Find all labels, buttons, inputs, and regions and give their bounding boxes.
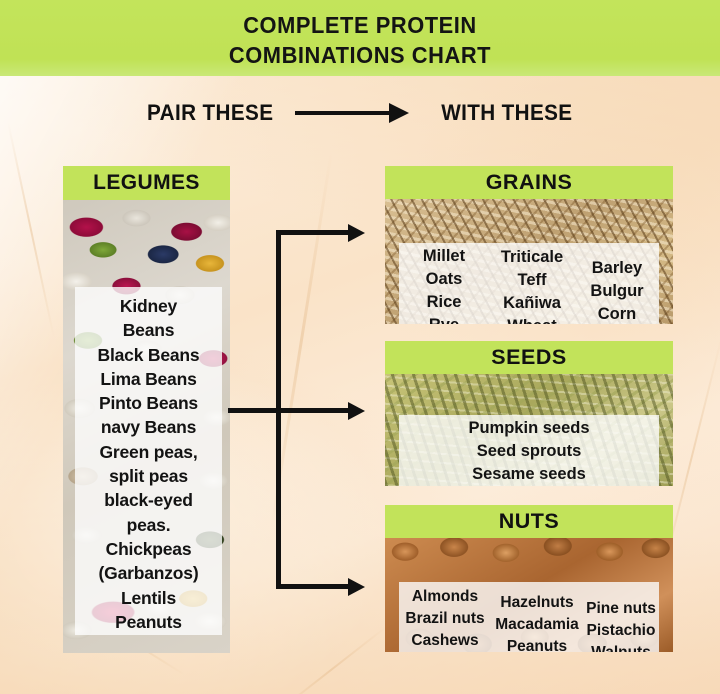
arrow-head (389, 103, 409, 123)
nuts-list-item: Pistachio (587, 620, 656, 642)
grains-list-item: Triticale (501, 246, 563, 269)
grains-food-list: MilletOatsRiceRye TriticaleTeffKañiwaWhe… (399, 243, 659, 324)
with-these-label: WITH THESE (442, 100, 573, 126)
legumes-list-item: Green peas, (75, 440, 222, 464)
legumes-heading: LEGUMES (63, 166, 230, 200)
seeds-list-item: Pumpkin seeds (468, 417, 589, 440)
nuts-list-item: Pine nuts (586, 598, 656, 620)
grains-list-item: Bulgur (590, 280, 643, 303)
legumes-list-item: Peanuts (75, 610, 222, 634)
seeds-list-item: Sesame seeds (472, 463, 586, 486)
nuts-panel: NUTS AlmondsBrazil nutsCashewsCoconut Ha… (385, 505, 673, 652)
grains-list-item: Corn (598, 303, 637, 324)
legumes-list-item: Beans (75, 318, 222, 342)
grains-list-item: Teff (517, 269, 546, 292)
legumes-list-item: Chickpeas (75, 537, 222, 561)
grains-heading: GRAINS (385, 166, 673, 199)
arrow-right-icon (295, 103, 419, 123)
arrow-head-nuts-icon (348, 578, 365, 596)
legumes-list-item: split peas (75, 464, 222, 488)
legumes-food-list: KidneyBeansBlack BeansLima BeansPinto Be… (75, 287, 222, 635)
pair-these-label: PAIR THESE (147, 100, 273, 126)
seeds-list-item: Seed sprouts (477, 440, 582, 463)
nuts-food-list: AlmondsBrazil nutsCashewsCoconut Hazelnu… (399, 582, 659, 652)
grains-list-item: Millet (423, 245, 465, 268)
grains-list-item: Wheat (507, 315, 557, 324)
seeds-heading: SEEDS (385, 341, 673, 374)
grains-list-item: Rye (429, 314, 459, 324)
seeds-photo: Pumpkin seedsSeed sproutsSesame seedsFla… (385, 374, 673, 486)
arrow-head-seeds-icon (348, 402, 365, 420)
connector-branch-grains (276, 230, 350, 235)
grains-photo: MilletOatsRiceRye TriticaleTeffKañiwaWhe… (385, 199, 673, 324)
nuts-list-item: Almonds (412, 586, 478, 608)
grains-list-item: Oats (426, 268, 463, 291)
connector-stem (228, 408, 280, 413)
legumes-list-item: Pinto Beans (75, 391, 222, 415)
connector-trunk (276, 230, 281, 589)
legumes-list-item: peas. (75, 513, 222, 537)
nuts-list-item: Walnuts (591, 642, 651, 652)
nuts-list-item: Brazil nuts (405, 608, 484, 630)
seeds-food-list: Pumpkin seedsSeed sproutsSesame seedsFla… (399, 415, 659, 486)
background-vein (275, 626, 387, 694)
connector-branch-seeds (276, 408, 350, 413)
nuts-list-item: Macadamia (495, 614, 579, 636)
grains-column-1: MilletOatsRiceRye (402, 245, 486, 324)
legumes-list-item: navy Beans (75, 415, 222, 439)
legumes-list-item: black-eyed (75, 488, 222, 512)
arrow-shaft (295, 111, 395, 115)
nuts-column-2: HazelnutsMacadamiaPeanutsPecans (491, 583, 583, 652)
nuts-photo: AlmondsBrazil nutsCashewsCoconut Hazelnu… (385, 538, 673, 652)
legumes-list-item: Black Beans (75, 343, 222, 367)
legumes-photo: KidneyBeansBlack BeansLima BeansPinto Be… (63, 200, 230, 653)
page-title-line-2: COMBINATIONS CHART (25, 40, 695, 70)
nuts-heading: NUTS (385, 505, 673, 538)
nuts-column-1: AlmondsBrazil nutsCashewsCoconut (399, 583, 491, 652)
legumes-list-item: Lentils (75, 586, 222, 610)
chart-title-banner: COMPLETE PROTEIN COMBINATIONS CHART (0, 0, 720, 76)
arrow-head-grains-icon (348, 224, 365, 242)
pairing-instruction-bar: PAIR THESE WITH THESE (0, 96, 720, 130)
background-vein (270, 152, 332, 528)
nuts-list-item: Peanuts (507, 636, 567, 652)
seeds-panel: SEEDS Pumpkin seedsSeed sproutsSesame se… (385, 341, 673, 486)
connector-branch-nuts (276, 584, 350, 589)
grains-column-3: BarleyBulgurCorn (578, 245, 656, 324)
grains-list-item: Barley (592, 257, 642, 280)
grains-list-item: Kañiwa (503, 292, 561, 315)
grains-panel: GRAINS MilletOatsRiceRye TriticaleTeffKa… (385, 166, 673, 324)
grains-list-item: Rice (427, 291, 462, 314)
legumes-list-item: Lima Beans (75, 367, 222, 391)
legumes-panel: LEGUMES KidneyBeansBlack BeansLima Beans… (63, 166, 230, 653)
page-title-line-1: COMPLETE PROTEIN (25, 0, 695, 40)
nuts-list-item: Hazelnuts (500, 592, 573, 614)
nuts-column-3: Pine nutsPistachioWalnuts (583, 583, 659, 652)
background-vein (7, 122, 55, 338)
legumes-list-item: Kidney (75, 294, 222, 318)
nuts-list-item: Cashews (411, 630, 478, 652)
infographic-canvas: COMPLETE PROTEIN COMBINATIONS CHART PAIR… (0, 0, 720, 694)
grains-column-2: TriticaleTeffKañiwaWheat (486, 245, 578, 324)
legumes-list-item: (Garbanzos) (75, 561, 222, 585)
